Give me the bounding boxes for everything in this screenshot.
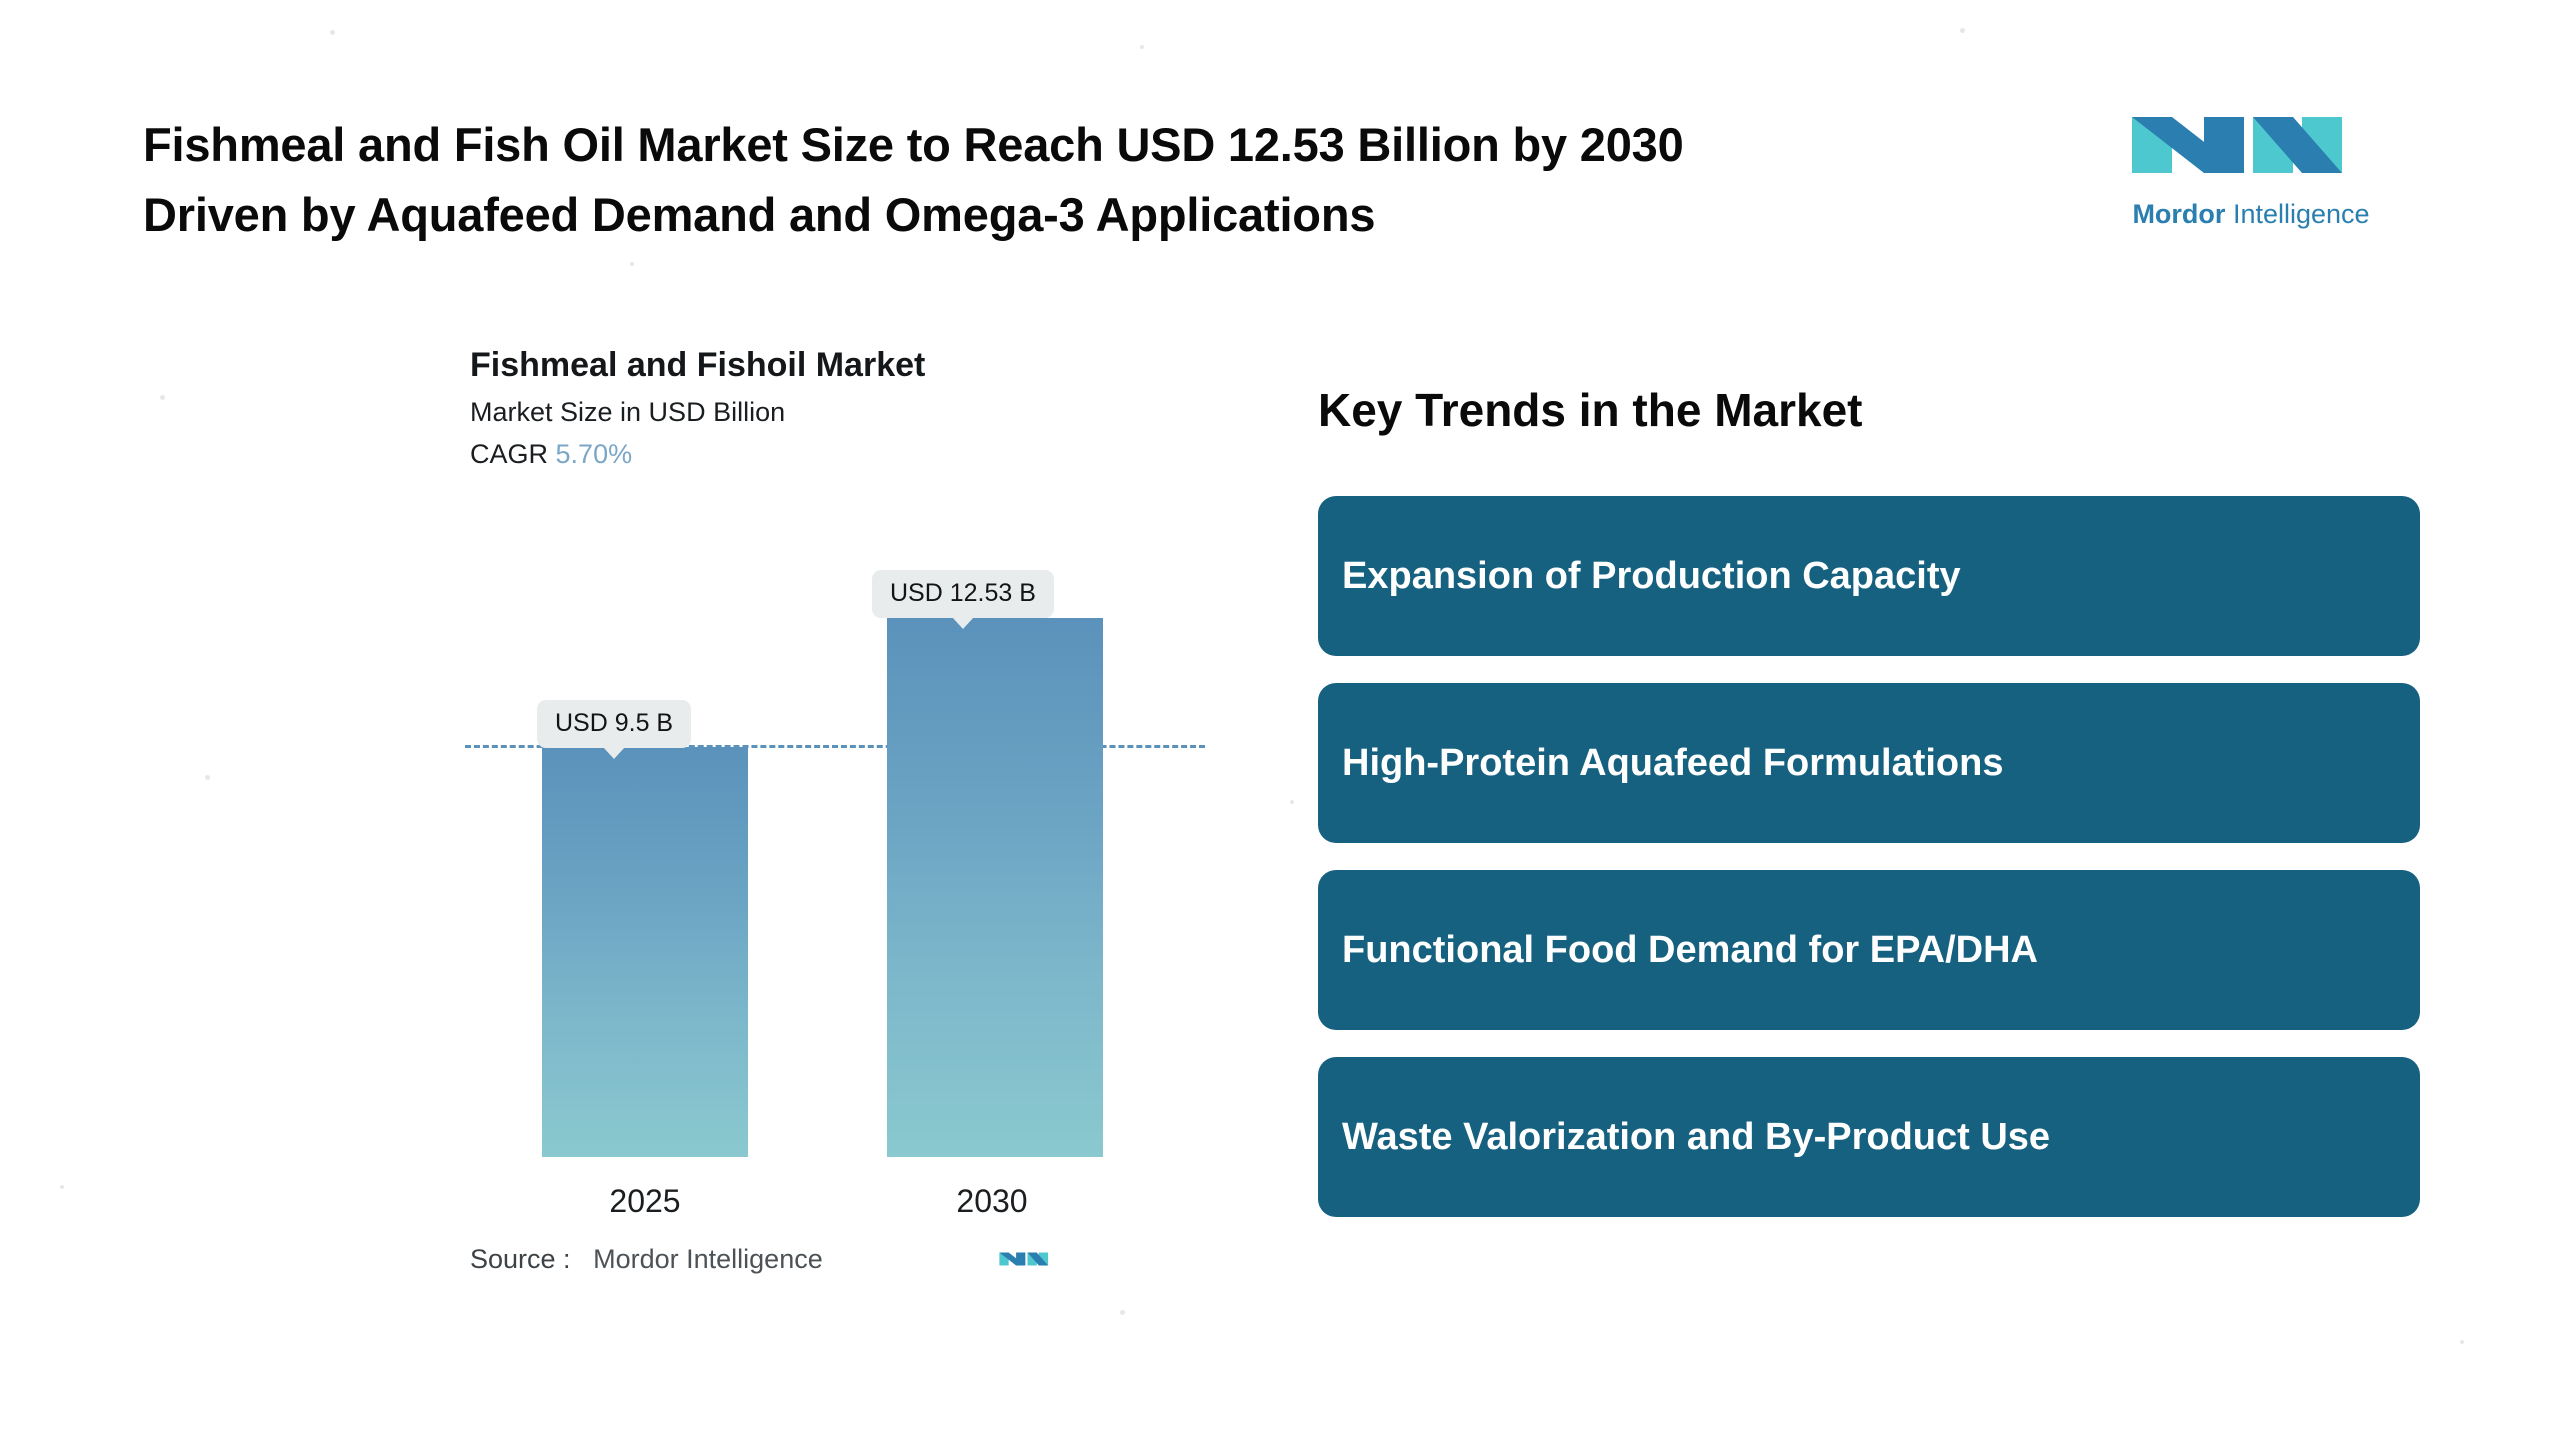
trend-card-1-label: Expansion of Production Capacity (1342, 553, 1961, 599)
infographic-canvas: Fishmeal and Fish Oil Market Size to Rea… (0, 0, 2560, 1440)
chart-header: Fishmeal and Fishoil Market Market Size … (470, 345, 1210, 471)
speckle (60, 1185, 64, 1189)
speckle (2460, 1340, 2464, 1344)
bar-2025 (542, 747, 748, 1157)
trend-card-3[interactable]: Functional Food Demand for EPA/DHA (1318, 870, 2420, 1030)
source-label: Source : (470, 1244, 571, 1274)
bar-chart-plot: USD 9.5 B USD 12.53 B 2025 2030 (440, 540, 1200, 1240)
page-header: Fishmeal and Fish Oil Market Size to Rea… (143, 110, 2153, 250)
bar-2030 (887, 618, 1103, 1157)
speckle (1140, 45, 1144, 49)
brand-name-regular: Intelligence (2233, 199, 2370, 229)
speckle (1960, 28, 1965, 33)
trend-card-4[interactable]: Waste Valorization and By-Product Use (1318, 1057, 2420, 1217)
brand-logo: Mordor Intelligence (2126, 95, 2376, 229)
mordor-m-logo-icon (998, 1240, 1056, 1278)
speckle (630, 262, 634, 266)
chart-title: Fishmeal and Fishoil Market (470, 345, 1210, 385)
key-trends-panel: Key Trends in the Market Expansion of Pr… (1318, 382, 2420, 1217)
trend-card-1[interactable]: Expansion of Production Capacity (1318, 496, 2420, 656)
chart-source: Source : Mordor Intelligence (470, 1240, 1210, 1278)
page-title-line-1: Fishmeal and Fish Oil Market Size to Rea… (143, 118, 1684, 171)
chart-subtitle: Market Size in USD Billion (470, 395, 1210, 429)
x-axis-label-2030: 2030 (882, 1183, 1102, 1220)
speckle (330, 30, 335, 35)
speckle (160, 395, 165, 400)
trend-card-2-label: High-Protein Aquafeed Formulations (1342, 740, 2004, 786)
trend-card-4-label: Waste Valorization and By-Product Use (1342, 1114, 2050, 1160)
brand-name-bold: Mordor (2132, 199, 2225, 229)
speckle (205, 775, 210, 780)
cagr-label: CAGR (470, 439, 548, 469)
data-label-2030: USD 12.53 B (872, 570, 1054, 618)
trend-card-3-label: Functional Food Demand for EPA/DHA (1342, 927, 2038, 973)
trend-card-2[interactable]: High-Protein Aquafeed Formulations (1318, 683, 2420, 843)
mordor-m-logo-icon (2126, 95, 2376, 195)
page-title-line-2: Driven by Aquafeed Demand and Omega-3 Ap… (143, 180, 2153, 250)
data-label-2025: USD 9.5 B (537, 700, 691, 748)
speckle (1290, 800, 1294, 804)
speckle (1120, 1310, 1125, 1315)
brand-wordmark: Mordor Intelligence (2126, 199, 2376, 229)
source-value: Mordor Intelligence (593, 1244, 823, 1274)
key-trends-title: Key Trends in the Market (1318, 382, 2420, 438)
page-title: Fishmeal and Fish Oil Market Size to Rea… (143, 110, 2153, 250)
cagr-value: 5.70% (556, 439, 633, 469)
x-axis-label-2025: 2025 (535, 1183, 755, 1220)
source-text: Source : Mordor Intelligence (470, 1244, 823, 1275)
chart-cagr: CAGR 5.70% (470, 437, 1210, 471)
